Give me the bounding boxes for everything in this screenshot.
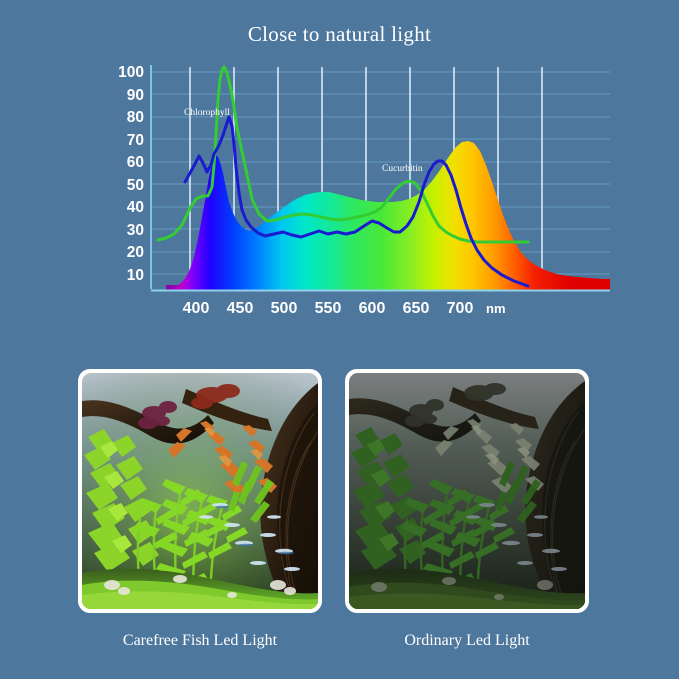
y-tick-30: 30 (127, 222, 144, 239)
x-tick-550: 550 (315, 300, 342, 317)
y-tick-60: 60 (127, 154, 144, 171)
caption-carefree-fish-led-light: Carefree Fish Led Light (78, 632, 322, 650)
spectrum-chart: Chlorophyll Cucurbitin 100 90 80 70 60 5… (0, 55, 679, 325)
chlorophyll-label: Chlorophyll (184, 108, 230, 118)
x-tick-600: 600 (359, 300, 386, 317)
aquarium-photo-vibrant[interactable] (78, 369, 322, 613)
spectrum-chart-svg: Chlorophyll Cucurbitin 100 90 80 70 60 5… (0, 55, 679, 325)
page-title: Close to natural light (0, 22, 679, 47)
y-tick-90: 90 (127, 87, 144, 104)
x-tick-650: 650 (403, 300, 430, 317)
x-tick-400: 400 (183, 300, 210, 317)
aquarium-photo-dull[interactable] (345, 369, 589, 613)
caption-ordinary-led-light: Ordinary Led Light (345, 632, 589, 650)
y-tick-40: 40 (127, 199, 144, 216)
x-tick-450: 450 (227, 300, 254, 317)
y-tick-10: 10 (127, 267, 144, 284)
y-tick-100: 100 (118, 64, 144, 81)
aquarium-photo-dull-image (349, 373, 585, 609)
y-tick-20: 20 (127, 244, 144, 261)
x-tick-700: 700 (447, 300, 474, 317)
y-tick-70: 70 (127, 132, 144, 149)
y-tick-80: 80 (127, 109, 144, 126)
aquarium-photo-vibrant-image (82, 373, 318, 609)
x-tick-500: 500 (271, 300, 298, 317)
x-axis-unit-label: nm (486, 301, 506, 316)
y-tick-50: 50 (127, 177, 144, 194)
cucurbitin-label: Cucurbitin (382, 164, 423, 174)
spectrum-baseline-strip (166, 285, 610, 290)
